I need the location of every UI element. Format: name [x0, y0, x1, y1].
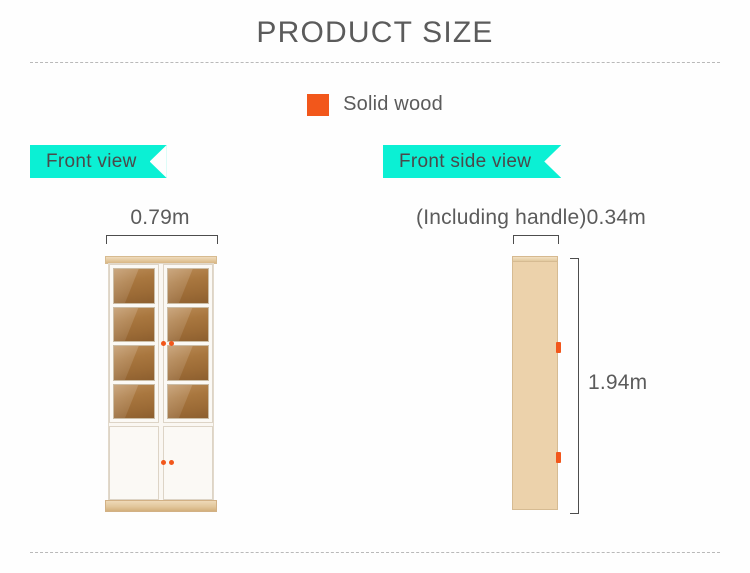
product-size-infographic: PRODUCT SIZE Solid wood Front view Front… [0, 0, 750, 573]
door-knob-icon [161, 460, 166, 465]
legend: Solid wood [0, 93, 750, 116]
height-caliper-bracket-icon [570, 258, 579, 514]
height-dimension-label: 1.94m [588, 371, 647, 395]
front-view-illustration [105, 256, 217, 512]
glass-pane [113, 307, 155, 343]
glass-pane [113, 345, 155, 381]
solid-wood-swatch-icon [307, 94, 329, 116]
side-view-illustration [512, 256, 558, 512]
glass-pane [167, 384, 209, 420]
side-wood-panel [512, 261, 558, 510]
door-knob-icon [161, 341, 166, 346]
ribbon-front-view-label: Front view [30, 151, 167, 173]
width-dimension-label: 0.79m [106, 206, 214, 230]
side-handle-icon [556, 342, 561, 353]
legend-label: Solid wood [343, 93, 443, 116]
page-title: PRODUCT SIZE [0, 16, 750, 50]
glass-pane [167, 307, 209, 343]
solid-door-left [109, 426, 159, 500]
glass-pane [167, 268, 209, 304]
depth-caliper-bracket-icon [513, 235, 559, 244]
divider-bottom [30, 552, 720, 554]
door-knob-icon [169, 341, 174, 346]
width-caliper-bracket-icon [106, 235, 218, 244]
depth-dimension-label: (Including handle)0.34m [402, 206, 660, 230]
divider-top [30, 62, 720, 64]
ribbon-front-side-view-label: Front side view [383, 151, 561, 173]
cabinet-base-plinth [105, 500, 217, 512]
glass-door-left [109, 264, 159, 423]
glass-pane [113, 384, 155, 420]
glass-pane [167, 345, 209, 381]
glass-pane [113, 268, 155, 304]
ribbon-front-view: Front view [30, 145, 167, 178]
door-knob-icon [169, 460, 174, 465]
side-handle-icon [556, 452, 561, 463]
ribbon-front-side-view: Front side view [383, 145, 561, 178]
